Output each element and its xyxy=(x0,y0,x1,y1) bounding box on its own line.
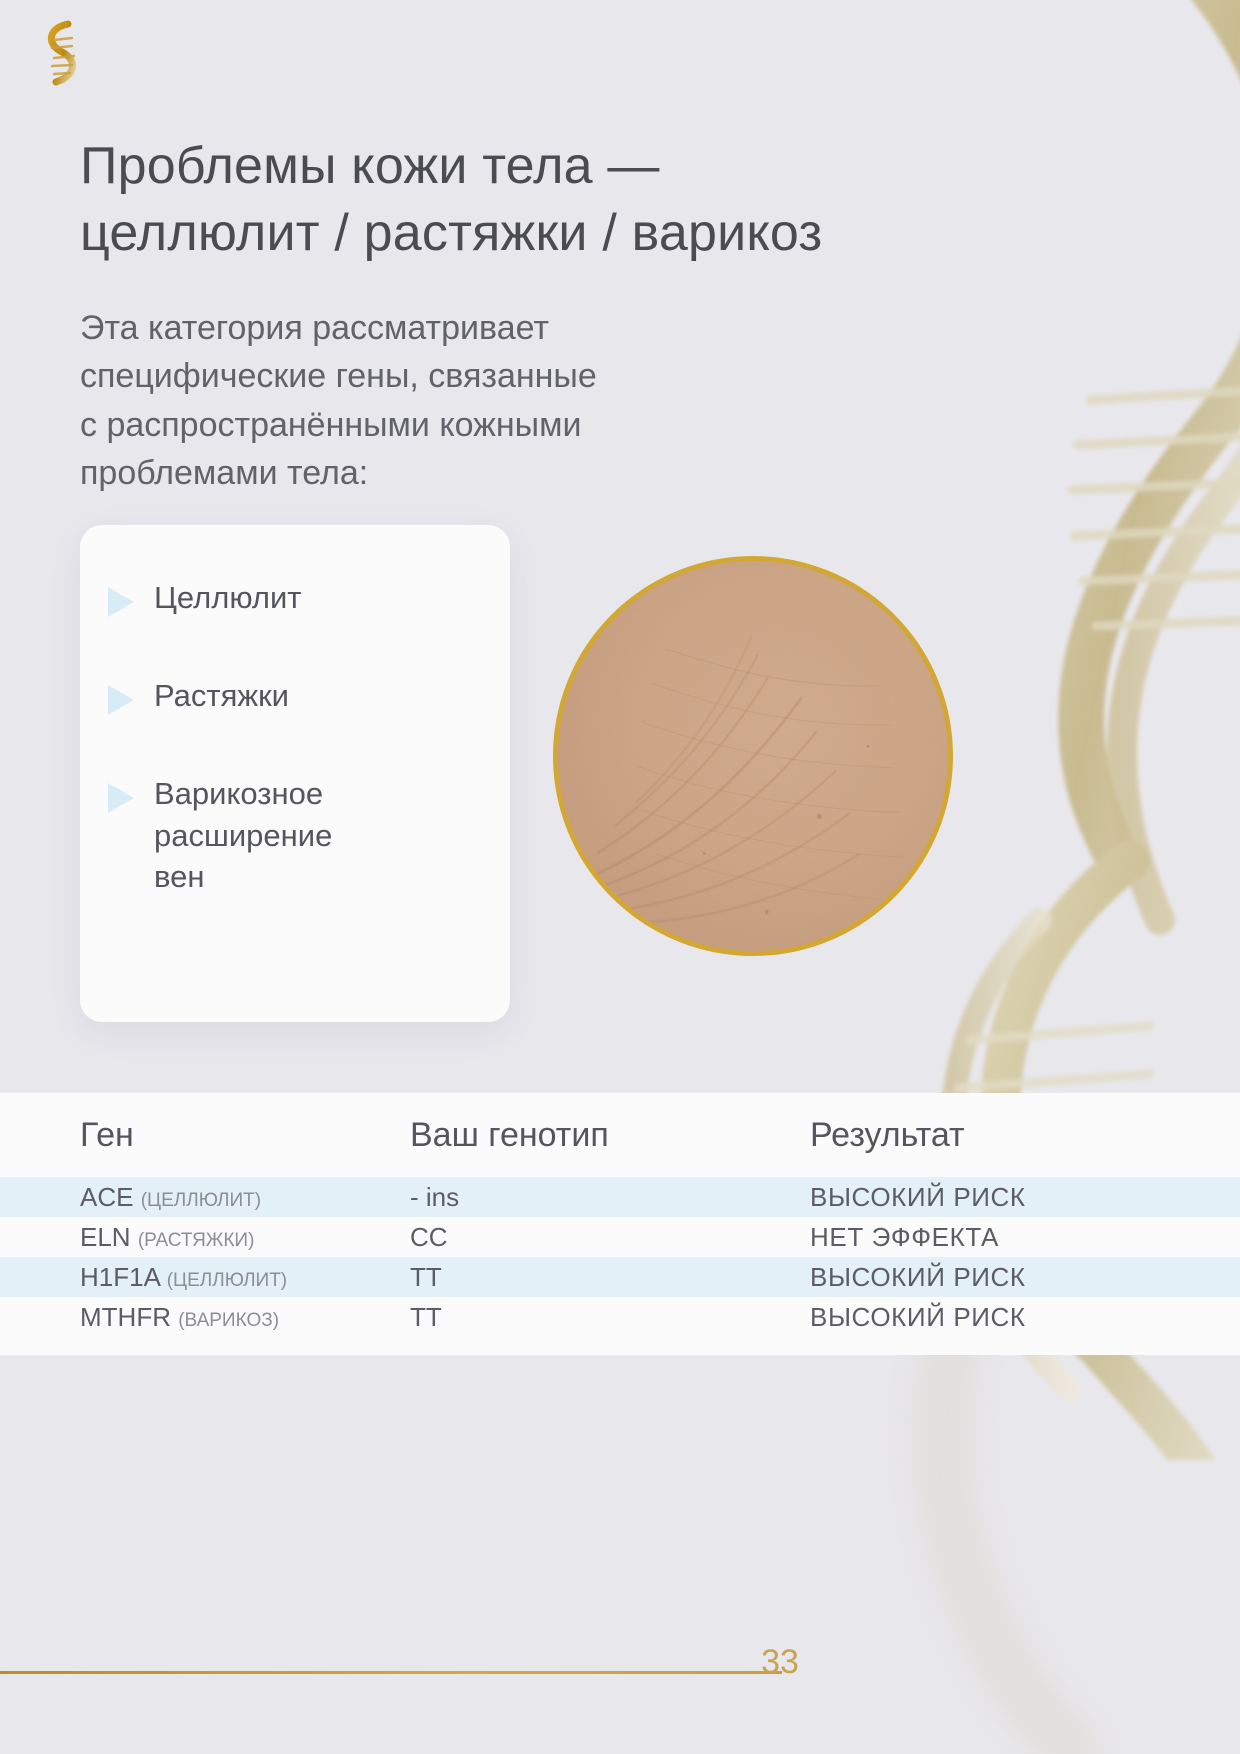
table-header-row: Ген Ваш генотип Результат xyxy=(0,1093,1240,1177)
cell-result: ВЫСОКИЙ РИСК xyxy=(810,1297,1240,1337)
cell-result: ВЫСОКИЙ РИСК xyxy=(810,1257,1240,1297)
cell-result: ВЫСОКИЙ РИСК xyxy=(810,1177,1240,1217)
triangle-bullet-icon xyxy=(108,685,134,715)
table-row: H1F1A (ЦЕЛЛЮЛИТ) TT ВЫСОКИЙ РИСК xyxy=(0,1257,1240,1297)
gene-note: (РАСТЯЖКИ) xyxy=(138,1230,255,1251)
table-row: MTHFR (ВАРИКОЗ) TT ВЫСОКИЙ РИСК xyxy=(0,1297,1240,1337)
cell-gene: ELN (РАСТЯЖКИ) xyxy=(0,1217,410,1257)
list-item: Варикозное расширение вен xyxy=(108,773,498,899)
list-item-label: Целлюлит xyxy=(154,577,302,619)
list-item-label: Варикозное расширение вен xyxy=(154,773,332,899)
column-header-genotype: Ваш генотип xyxy=(410,1093,810,1177)
conditions-card: Целлюлит Растяжки Варикозное расширение … xyxy=(80,525,510,1022)
gene-name: MTHFR xyxy=(80,1302,171,1332)
conditions-list: Целлюлит Растяжки Варикозное расширение … xyxy=(108,577,498,898)
gene-note: (ВАРИКОЗ) xyxy=(178,1310,279,1331)
table-row: ACE (ЦЕЛЛЮЛИТ) - ins ВЫСОКИЙ РИСК xyxy=(0,1177,1240,1217)
list-item: Растяжки xyxy=(108,675,498,717)
footer-rule xyxy=(0,1671,782,1674)
skin-closeup-photo xyxy=(553,556,953,956)
cell-gene: MTHFR (ВАРИКОЗ) xyxy=(0,1297,410,1337)
skin-texture-image xyxy=(558,561,948,951)
gene-name: H1F1A xyxy=(80,1262,160,1292)
list-item-label: Растяжки xyxy=(154,675,289,717)
cell-genotype: - ins xyxy=(410,1177,810,1217)
cell-gene: ACE (ЦЕЛЛЮЛИТ) xyxy=(0,1177,410,1217)
cell-result: НЕТ ЭФФЕКТА xyxy=(810,1217,1240,1257)
cell-gene: H1F1A (ЦЕЛЛЮЛИТ) xyxy=(0,1257,410,1297)
genotype-table: Ген Ваш генотип Результат ACE (ЦЕЛЛЮЛИТ)… xyxy=(0,1093,1240,1355)
cell-genotype: TT xyxy=(410,1297,810,1337)
gene-note: (ЦЕЛЛЮЛИТ) xyxy=(167,1270,287,1291)
column-header-result: Результат xyxy=(810,1093,1240,1177)
cell-genotype: CC xyxy=(410,1217,810,1257)
gene-note: (ЦЕЛЛЮЛИТ) xyxy=(141,1190,261,1211)
column-header-gene: Ген xyxy=(0,1093,410,1177)
list-item: Целлюлит xyxy=(108,577,498,619)
intro-paragraph: Эта категория рассматривает специфически… xyxy=(80,304,800,497)
gene-name: ELN xyxy=(80,1222,131,1252)
cell-genotype: TT xyxy=(410,1257,810,1297)
dna-helix-logo xyxy=(32,18,88,90)
gene-name: ACE xyxy=(80,1182,133,1212)
triangle-bullet-icon xyxy=(108,783,134,813)
triangle-bullet-icon xyxy=(108,587,134,617)
table-row: ELN (РАСТЯЖКИ) CC НЕТ ЭФФЕКТА xyxy=(0,1217,1240,1257)
page-title: Проблемы кожи тела — целлюлит / растяжки… xyxy=(80,133,960,268)
page-number: 33 xyxy=(735,1643,825,1682)
